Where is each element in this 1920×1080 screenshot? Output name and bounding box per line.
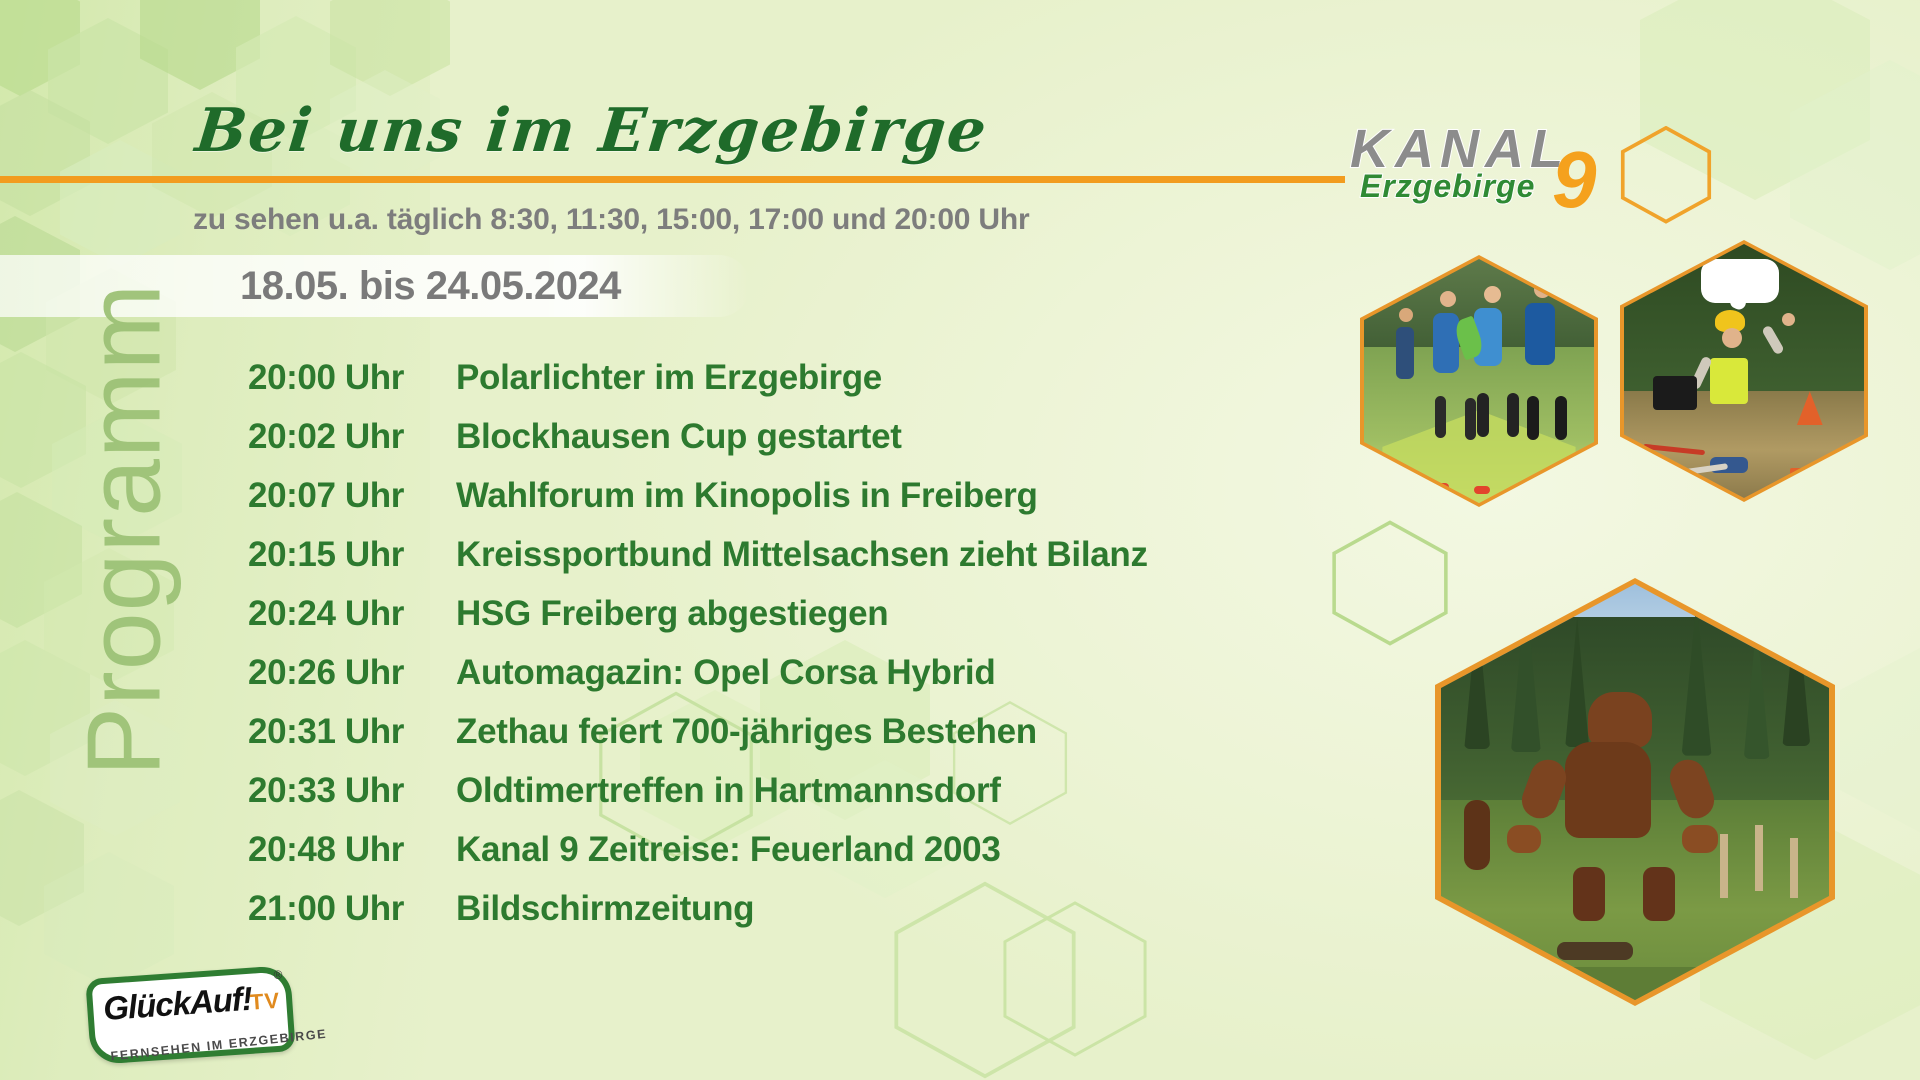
date-range-label: 18.05. bis 24.05.2024 <box>240 264 621 309</box>
schedule-title: Polarlichter im Erzgebirge <box>456 358 882 398</box>
header-divider-rule <box>0 176 1345 183</box>
programm-vertical-label: Programm <box>66 180 185 880</box>
schedule-title: Oldtimertreffen in Hartmannsdorf <box>456 771 1001 811</box>
schedule-time: 20:33 Uhr <box>248 771 456 811</box>
list-item: 20:33 Uhr Oldtimertreffen in Hartmannsdo… <box>248 771 1148 830</box>
schedule-time: 20:00 Uhr <box>248 358 456 398</box>
schedule-time: 20:15 Uhr <box>248 535 456 575</box>
logo-hexagon-outline-icon <box>1620 126 1712 220</box>
glueckauf-tv-logo: GlückAuf! TV ® FERNSEHEN IM ERZGEBIRGE <box>85 965 295 1065</box>
schedule-list: 20:00 Uhr Polarlichter im Erzgebirge 20:… <box>248 358 1148 948</box>
schedule-title: Blockhausen Cup gestartet <box>456 417 902 457</box>
schedule-title: Kanal 9 Zeitreise: Feuerland 2003 <box>456 830 1001 870</box>
broadcast-times-subtitle: zu sehen u.a. täglich 8:30, 11:30, 15:00… <box>193 203 1030 237</box>
schedule-title: Zethau feiert 700-jähriges Bestehen <box>456 712 1037 752</box>
list-item: 20:48 Uhr Kanal 9 Zeitreise: Feuerland 2… <box>248 830 1148 889</box>
schedule-time: 20:07 Uhr <box>248 476 456 516</box>
kanal9-logo: KANAL Erzgebirge 9 <box>1340 118 1630 228</box>
list-item: 20:00 Uhr Polarlichter im Erzgebirge <box>248 358 1148 417</box>
schedule-time: 20:02 Uhr <box>248 417 456 457</box>
kanal9-logo-region: Erzgebirge <box>1360 168 1535 205</box>
photo-wood-troll-sculpture <box>1441 584 1829 1000</box>
photo-kids-sport <box>1364 259 1594 503</box>
schedule-time: 20:48 Uhr <box>248 830 456 870</box>
schedule-time: 20:31 Uhr <box>248 712 456 752</box>
photo-construction-worker <box>1624 244 1864 498</box>
schedule-title: HSG Freiberg abgestiegen <box>456 594 888 634</box>
schedule-title: Wahlforum im Kinopolis in Freiberg <box>456 476 1038 516</box>
glueckauf-logo-tv: TV <box>249 988 281 1016</box>
schedule-time: 20:26 Uhr <box>248 653 456 693</box>
list-item: 20:24 Uhr HSG Freiberg abgestiegen <box>248 594 1148 653</box>
schedule-title: Bildschirmzeitung <box>456 889 754 929</box>
schedule-title: Automagazin: Opel Corsa Hybrid <box>456 653 995 693</box>
list-item: 20:07 Uhr Wahlforum im Kinopolis in Frei… <box>248 476 1148 535</box>
list-item: 20:26 Uhr Automagazin: Opel Corsa Hybrid <box>248 653 1148 712</box>
page-title: Bei uns im Erzgebirge <box>192 96 991 166</box>
list-item: 20:15 Uhr Kreissportbund Mittelsachsen z… <box>248 535 1148 594</box>
list-item: 20:02 Uhr Blockhausen Cup gestartet <box>248 417 1148 476</box>
schedule-time: 21:00 Uhr <box>248 889 456 929</box>
list-item: 21:00 Uhr Bildschirmzeitung <box>248 889 1148 948</box>
list-item: 20:31 Uhr Zethau feiert 700-jähriges Bes… <box>248 712 1148 771</box>
schedule-time: 20:24 Uhr <box>248 594 456 634</box>
kanal9-logo-number: 9 <box>1552 140 1597 220</box>
schedule-title: Kreissportbund Mittelsachsen zieht Bilan… <box>456 535 1148 575</box>
registered-trademark-icon: ® <box>273 968 283 983</box>
broadcast-program-slide: Bei uns im Erzgebirge zu sehen u.a. tägl… <box>0 0 1920 1080</box>
